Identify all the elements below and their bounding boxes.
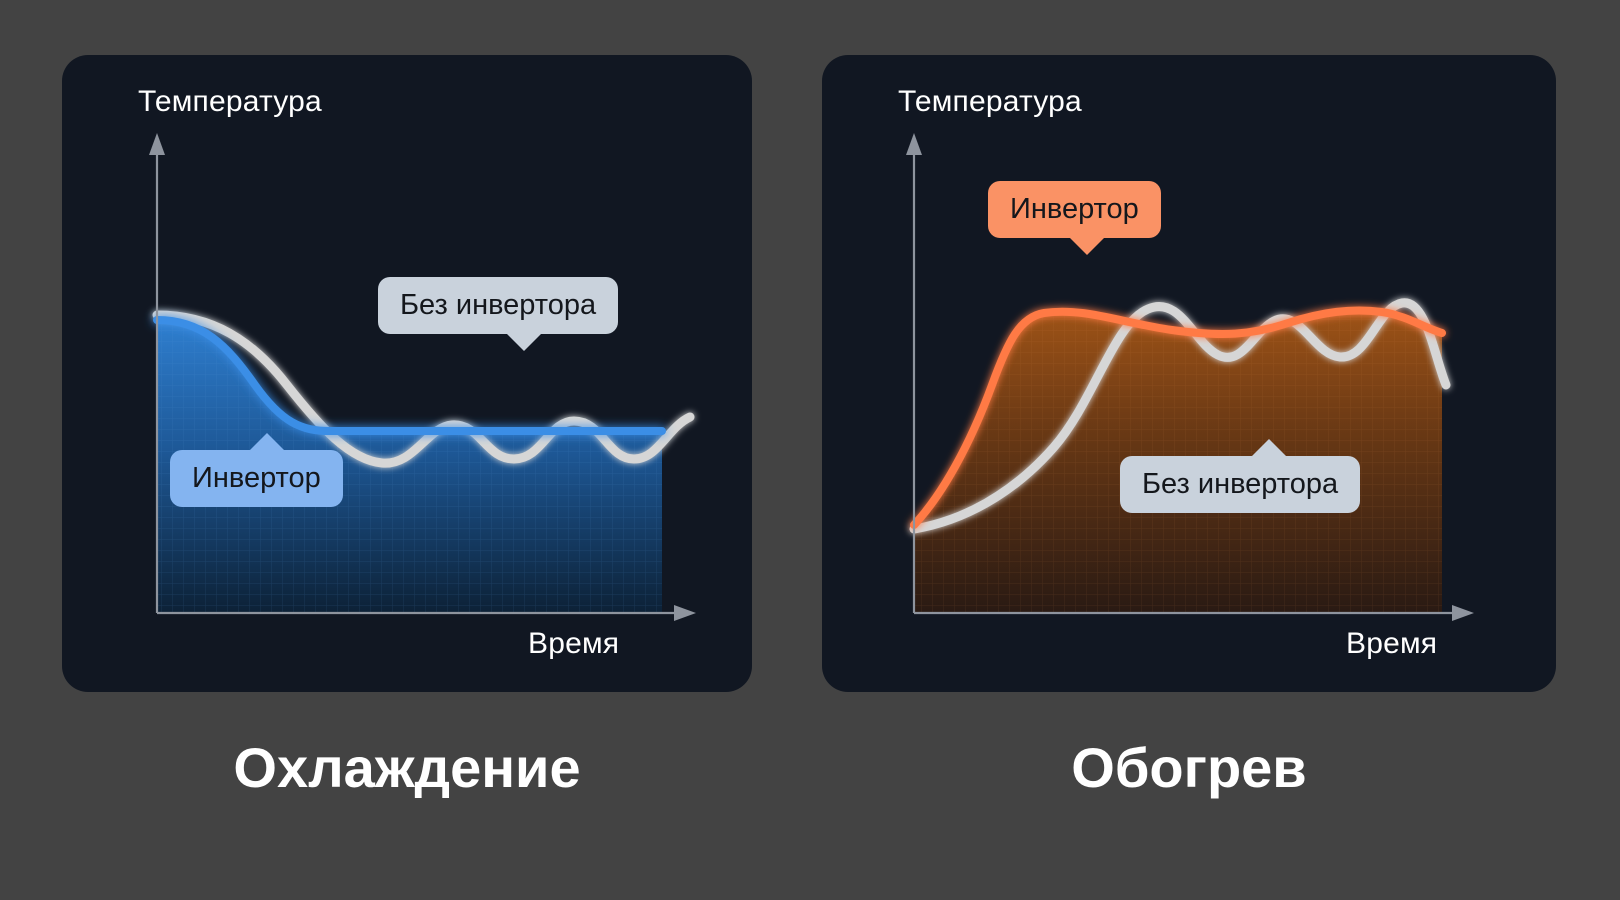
cooling-badge-inverter-label: Инвертор bbox=[192, 462, 321, 494]
callout-tip-up-icon bbox=[1252, 439, 1286, 456]
heating-chart bbox=[822, 55, 1556, 692]
callout-tip-down-icon bbox=[507, 334, 541, 351]
heating-x-axis-label: Время bbox=[1346, 627, 1437, 661]
caption-cooling: Охлаждение bbox=[62, 735, 752, 800]
panel-heating-body: Температура Время Инвертор Без инвертора bbox=[822, 55, 1556, 692]
panel-cooling: Температура Время Без инвертора Инвертор bbox=[62, 55, 752, 692]
caption-heating: Обогрев bbox=[822, 735, 1556, 800]
heating-badge-inverter[interactable]: Инвертор bbox=[988, 181, 1161, 238]
callout-tip-down-icon bbox=[1070, 238, 1104, 255]
heating-badge-no-inverter[interactable]: Без инвертора bbox=[1120, 456, 1360, 513]
cooling-x-axis-label: Время bbox=[528, 627, 619, 661]
callout-tip-up-icon bbox=[250, 433, 284, 450]
cooling-y-axis-label: Температура bbox=[138, 85, 322, 119]
cooling-badge-no-inverter[interactable]: Без инвертора bbox=[378, 277, 618, 334]
panel-heating: Температура Время Инвертор Без инвертора bbox=[822, 55, 1556, 692]
diagram-root: Температура Время Без инвертора Инвертор bbox=[0, 0, 1620, 900]
cooling-badge-inverter[interactable]: Инвертор bbox=[170, 450, 343, 507]
cooling-badge-no-inverter-label: Без инвертора bbox=[400, 289, 596, 321]
heating-badge-inverter-label: Инвертор bbox=[1010, 193, 1139, 225]
heating-badge-no-inverter-label: Без инвертора bbox=[1142, 468, 1338, 500]
heating-y-axis-label: Температура bbox=[898, 85, 1082, 119]
cooling-chart bbox=[62, 55, 752, 692]
panel-cooling-body: Температура Время Без инвертора Инвертор bbox=[62, 55, 752, 692]
